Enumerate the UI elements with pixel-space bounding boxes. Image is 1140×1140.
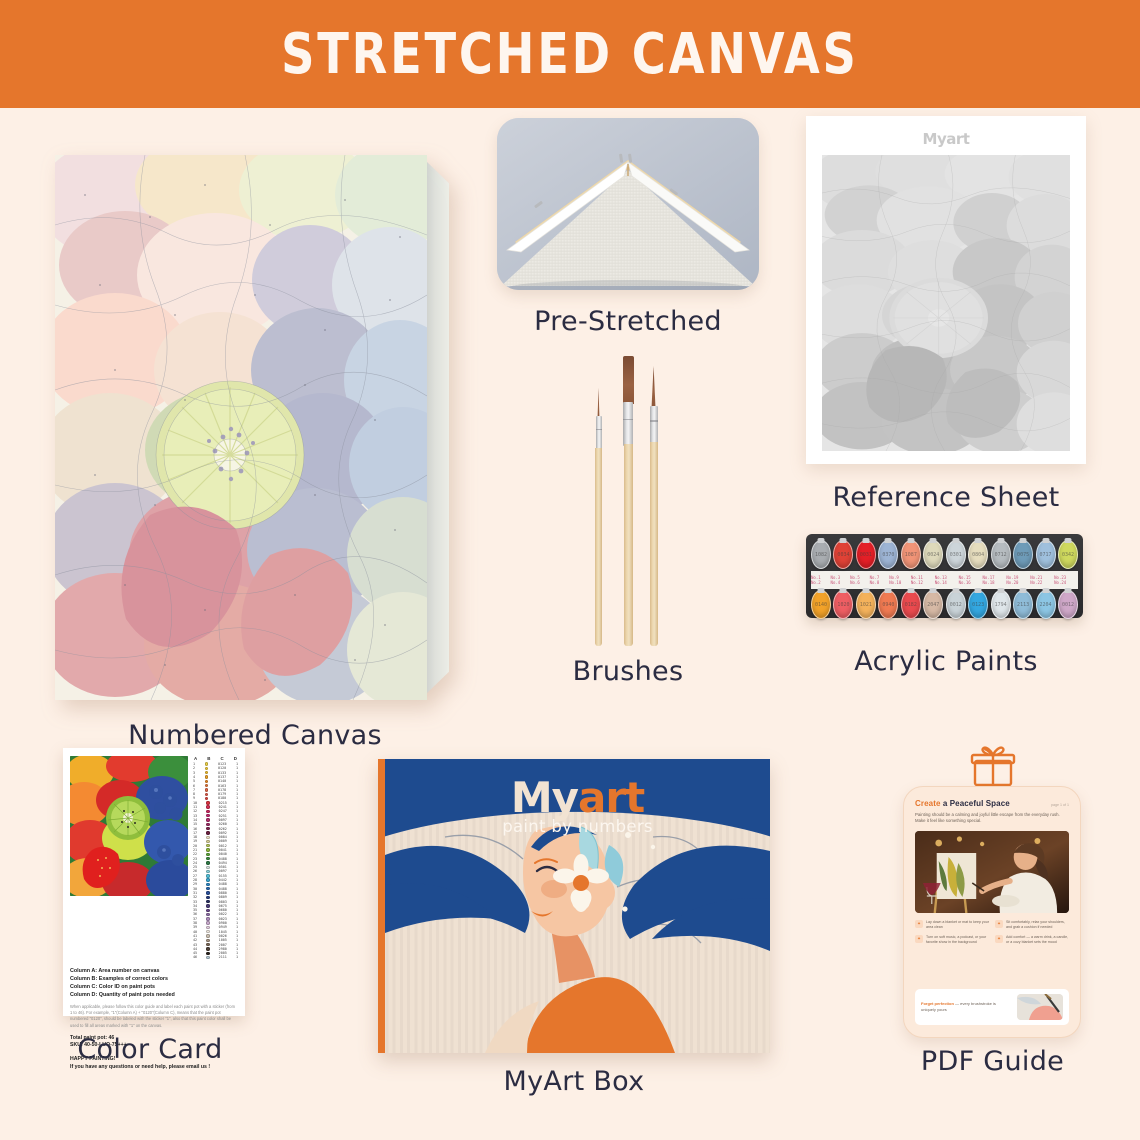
legend-header-d: D [234, 756, 237, 761]
pdf-tip: ✦Turn on soft music, a podcast, or your … [915, 935, 989, 945]
legend-quantity: 1 [236, 955, 238, 959]
pdf-guide-page: Create a Peaceful Space page 1 of 1 Pain… [915, 799, 1069, 1025]
legend-area-number: 46 [193, 955, 197, 959]
paint-pot: 0075 [1013, 540, 1033, 569]
paint-pot: 0012 [1058, 590, 1078, 619]
paint-pot-code: 1082 [815, 552, 827, 558]
paint-pot: 0804 [968, 540, 988, 569]
paint-pot-code: 0012 [950, 602, 962, 608]
candle-icon: ✦ [995, 935, 1003, 943]
canvas-front-face [55, 155, 427, 700]
pdf-footer-message: Forget perfection — every brushstroke is… [921, 1001, 1011, 1012]
caption-brushes: Brushes [498, 656, 758, 687]
pre-stretched-photo [497, 118, 759, 290]
myart-box-tagline: paint by numbers [385, 817, 770, 836]
legend-row-list: 1012312012013013314013715014016016317017… [193, 762, 238, 960]
paint-pot: 0012 [946, 590, 966, 619]
paint-pot: 0123 [968, 590, 988, 619]
caption-myart-box: MyArt Box [378, 1066, 770, 1097]
music-icon: ✦ [915, 935, 923, 943]
pdf-page-number: page 1 of 1 [1051, 803, 1069, 807]
pdf-tip: ✦Add comfort — a warm drink, a candle, o… [995, 935, 1069, 945]
paint-pot: 1794 [991, 590, 1011, 619]
paint-strip-label: No.3 No.4 [831, 575, 851, 585]
paint-strip-label: No.5 No.6 [850, 575, 870, 585]
paint-pot: 0024 [923, 540, 943, 569]
paint-pot-row-bottom: 0140102010210940018220470012012317942113… [811, 590, 1078, 620]
paint-pot: 0140 [811, 590, 831, 619]
pdf-guide-tip-list: ✦Lay down a blanket or mat to keep your … [915, 920, 1069, 945]
paint-pot: 0034 [833, 540, 853, 569]
paint-pot-code: 0712 [995, 552, 1007, 558]
paint-pot: 2113 [1013, 590, 1033, 619]
paint-pot-code: 1021 [860, 602, 872, 608]
paint-strip-label: No.1 No.2 [811, 575, 831, 585]
pdf-guide-footer: Forget perfection — every brushstroke is… [915, 989, 1069, 1025]
chair-icon: ✦ [995, 920, 1003, 928]
paint-pot: 1020 [833, 590, 853, 619]
paint-pot: 0717 [1036, 540, 1056, 569]
caption-color-card: Color Card [55, 1034, 245, 1065]
brushes-image [498, 356, 758, 646]
column-c-desc: Column C: Color ID on paint pots [70, 984, 155, 990]
caption-reference-sheet: Reference Sheet [806, 482, 1086, 513]
column-a-desc: Column A: Area number on canvas [70, 968, 159, 974]
item-brushes: Brushes [498, 356, 758, 700]
paint-pot: 0301 [946, 540, 966, 569]
paint-pot: 2047 [923, 590, 943, 619]
logo-art-text: art [578, 773, 644, 822]
canvas-frame-illustration [497, 118, 759, 290]
paint-strip-label: No.19 No.20 [1006, 575, 1030, 585]
paint-strip-label: No.9 No.10 [889, 575, 911, 585]
brush-round [649, 368, 658, 646]
paint-pot-code: 0717 [1040, 552, 1052, 558]
legend-header-b: B [207, 756, 210, 761]
paint-pot-code: 0031 [860, 552, 872, 558]
pdf-title-accent: Create [915, 799, 941, 808]
paint-strip-label: No.11 No.12 [911, 575, 935, 585]
paint-pot: 0031 [856, 540, 876, 569]
pdf-tip-text: Add comfort — a warm drink, a candle, or… [1006, 935, 1069, 945]
legend-row: 4621111 [193, 955, 238, 959]
item-numbered-canvas: Numbered Canvas [55, 155, 455, 700]
fruit-photo-illustration [70, 756, 188, 896]
paint-pot-code: 1020 [837, 602, 849, 608]
column-b-desc: Column B: Examples of correct colors [70, 976, 168, 982]
reference-sheet-paper: Myart [806, 116, 1086, 464]
paint-pot-code: 0075 [1017, 552, 1029, 558]
paint-pot-code: 0182 [905, 602, 917, 608]
pdf-tip-text: Sit comfortably, relax your shoulders, a… [1006, 920, 1069, 930]
blanket-icon: ✦ [915, 920, 923, 928]
pdf-tip-text: Lay down a blanket or mat to keep your a… [926, 920, 989, 930]
numbered-canvas-image [55, 155, 455, 700]
paint-pot-row-top: 1082003400310370108700240301080407120075… [811, 540, 1078, 570]
pdf-footer-accent: Forget perfection [921, 1001, 954, 1006]
paint-pot: 0342 [1058, 540, 1078, 569]
paint-pot-code: 0140 [815, 602, 827, 608]
item-acrylic-paints: 1082003400310370108700240301080407120075… [806, 534, 1086, 700]
color-card-legend: A B C D 10123120120130133140137150140160… [193, 756, 238, 960]
color-card-sheet: A B C D 10123120120130133140137150140160… [63, 748, 245, 1016]
paint-pot-code: 2204 [1040, 602, 1052, 608]
pdf-guide-subtitle: Painting should be a calming and joyful … [915, 812, 1069, 825]
color-card-top: A B C D 10123120120130133140137150140160… [70, 756, 238, 960]
pdf-tip-text: Turn on soft music, a podcast, or your f… [926, 935, 989, 945]
pdf-guide-tablet: Create a Peaceful Space page 1 of 1 Pain… [903, 786, 1081, 1038]
legend-header-a: A [194, 756, 197, 761]
pdf-footer-thumbnail [1017, 994, 1063, 1020]
paint-strip-label: No.15 No.16 [959, 575, 983, 585]
item-pre-stretched: Pre-Stretched [497, 118, 759, 348]
box-front-face: Myart paint by numbers [385, 759, 770, 1053]
pdf-tip: ✦Sit comfortably, relax your shoulders, … [995, 920, 1069, 930]
paint-pot: 2204 [1036, 590, 1056, 619]
color-card-columns-key: Column A: Area number on canvas Column B… [70, 967, 238, 999]
paint-pot-code: 0804 [972, 552, 984, 558]
paint-strip-label: No.23 No.24 [1054, 575, 1078, 585]
pbn-fruit-artwork [55, 155, 427, 700]
paint-pot-code: 2047 [927, 602, 939, 608]
caption-acrylic-paints: Acrylic Paints [806, 646, 1086, 677]
paint-pot-code: 0034 [837, 552, 849, 558]
item-color-card: A B C D 10123120120130133140137150140160… [55, 748, 245, 1088]
paint-pot-tray: 1082003400310370108700240301080407120075… [806, 534, 1083, 618]
paint-pot: 0370 [878, 540, 898, 569]
legend-header-c: C [221, 756, 224, 761]
logo-my-text: My [511, 773, 578, 822]
pdf-guide-header: Create a Peaceful Space page 1 of 1 [915, 799, 1069, 808]
caption-pre-stretched: Pre-Stretched [497, 306, 759, 337]
painting-scene-illustration [915, 831, 1069, 913]
paint-pot-code: 1087 [905, 552, 917, 558]
pdf-guide-photo [915, 831, 1069, 913]
paint-pot-code: 0342 [1062, 552, 1074, 558]
paint-tray-label-strip: No.1 No.2No.3 No.4No.5 No.6No.7 No.8No.9… [811, 571, 1078, 589]
paint-pot-code: 0012 [1062, 602, 1074, 608]
caption-pdf-guide: PDF Guide [895, 1046, 1090, 1077]
reference-sheet-logo: Myart [822, 130, 1070, 148]
paint-pot-code: 0024 [927, 552, 939, 558]
column-d-desc: Column D: Quantity of paint pots needed [70, 992, 175, 998]
hand-painting-thumbnail [1017, 994, 1063, 1020]
brush-flat [622, 356, 634, 646]
item-pdf-guide: Create a Peaceful Space page 1 of 1 Pain… [895, 746, 1090, 1088]
paint-pot-code: 0123 [972, 602, 984, 608]
paint-pot: 0940 [878, 590, 898, 619]
paint-pot-code: 0301 [950, 552, 962, 558]
paint-strip-label: No.17 No.18 [983, 575, 1007, 585]
item-reference-sheet: Myart [806, 116, 1086, 476]
paint-pot: 0182 [901, 590, 921, 619]
paint-pot: 1082 [811, 540, 831, 569]
paint-pot-code: 0940 [882, 602, 894, 608]
caption-numbered-canvas: Numbered Canvas [55, 720, 455, 751]
reference-greyscale-art [822, 155, 1070, 451]
paint-pot-code: 2113 [1017, 602, 1029, 608]
product-contents-grid: Numbered Canvas [0, 108, 1140, 1140]
color-card-fine-print: When applicable, please follow this colo… [70, 1004, 238, 1029]
page-header: STRETCHED CANVAS [0, 0, 1140, 108]
paint-strip-label: No.7 No.8 [870, 575, 890, 585]
legend-color-id: 2111 [219, 955, 227, 959]
page-title: STRETCHED CANVAS [281, 22, 859, 87]
color-card-reference-photo [70, 756, 188, 896]
brush-thin [595, 388, 602, 646]
pdf-guide-title: Create a Peaceful Space [915, 799, 1010, 808]
paint-pot: 1087 [901, 540, 921, 569]
pdf-tip: ✦Lay down a blanket or mat to keep your … [915, 920, 989, 930]
reference-sheet-artwork [822, 155, 1070, 451]
canvas-wrapped-edge [427, 162, 449, 693]
item-myart-box: Myart paint by numbers MyArt Box [378, 748, 770, 1088]
myart-box-image: Myart paint by numbers [378, 759, 770, 1053]
legend-color-swatch [206, 956, 209, 959]
paint-pot: 0712 [991, 540, 1011, 569]
paint-strip-label: No.13 No.14 [935, 575, 959, 585]
paint-pot: 1021 [856, 590, 876, 619]
paint-pot-code: 0370 [882, 552, 894, 558]
pdf-title-rest: a Peaceful Space [941, 799, 1010, 808]
myart-box-logo: Myart [385, 773, 770, 822]
paint-strip-label: No.21 No.22 [1030, 575, 1054, 585]
paint-pot-code: 1794 [995, 602, 1007, 608]
